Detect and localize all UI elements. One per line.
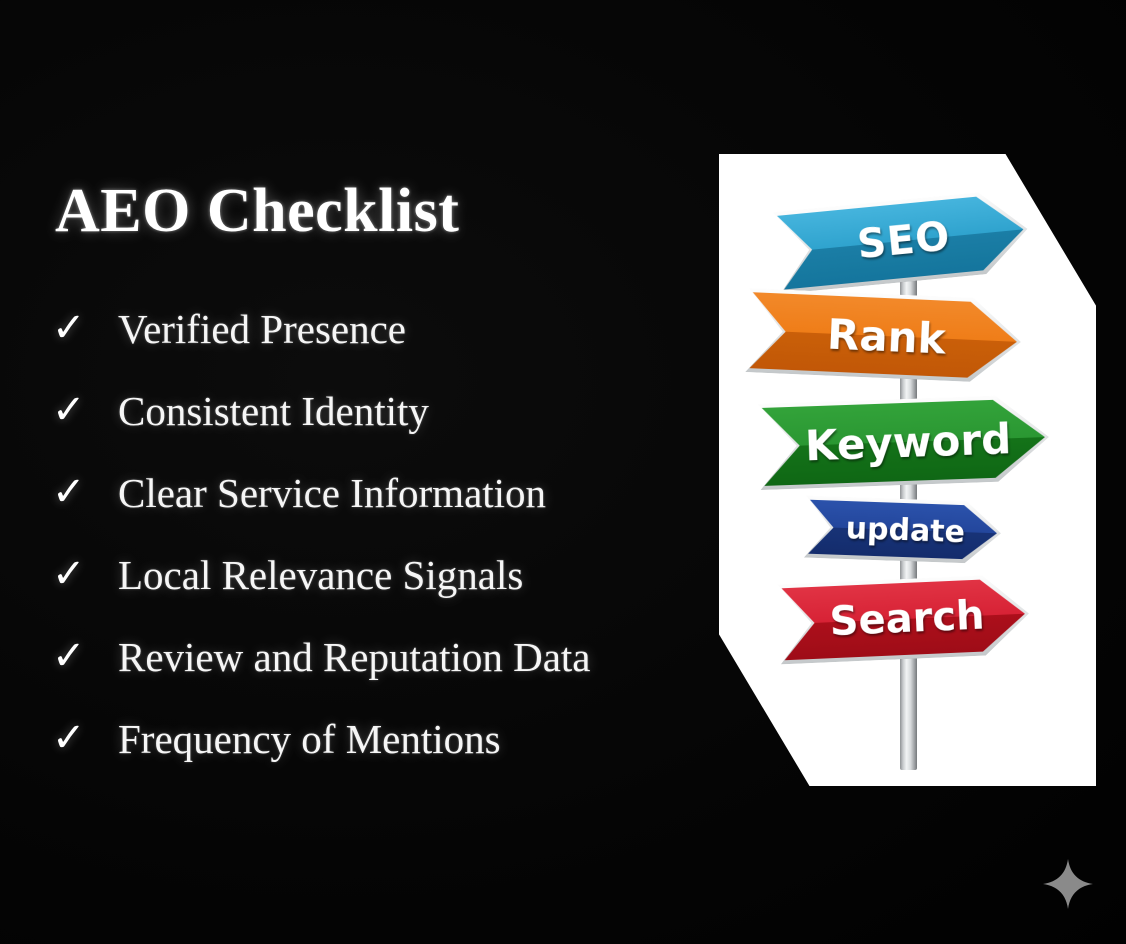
sign-arrow-update: update bbox=[804, 496, 1002, 565]
left-content-column: AEO Checklist ✓ Verified Presence ✓ Cons… bbox=[0, 0, 720, 944]
list-item: ✓ Verified Presence bbox=[52, 289, 712, 371]
sign-arrow-search: Search bbox=[777, 574, 1030, 665]
signpost-illustration: SEO Rank Keyword update Search bbox=[719, 154, 1096, 786]
checklist-item-label: Consistent Identity bbox=[118, 390, 712, 433]
checklist-item-label: Local Relevance Signals bbox=[118, 554, 712, 597]
sign-arrow-rank: Rank bbox=[745, 288, 1022, 384]
checklist-item-label: Review and Reputation Data bbox=[118, 636, 712, 679]
check-icon: ✓ bbox=[52, 390, 118, 430]
sign-label: Search bbox=[829, 593, 986, 646]
check-icon: ✓ bbox=[52, 554, 118, 594]
page-title: AEO Checklist bbox=[55, 180, 459, 242]
list-item: ✓ Clear Service Information bbox=[52, 453, 712, 535]
sign-label: Keyword bbox=[804, 414, 1012, 470]
sign-arrow-seo: SEO bbox=[773, 188, 1032, 294]
check-icon: ✓ bbox=[52, 636, 118, 676]
sign-label: Rank bbox=[826, 309, 947, 363]
list-item: ✓ Consistent Identity bbox=[52, 371, 712, 453]
signpost-pole bbox=[900, 210, 917, 770]
checklist-item-label: Verified Presence bbox=[118, 308, 712, 351]
checklist-item-label: Clear Service Information bbox=[118, 472, 712, 515]
list-item: ✓ Review and Reputation Data bbox=[52, 617, 712, 699]
sign-label: update bbox=[845, 511, 965, 550]
sign-arrow-keyword: Keyword bbox=[758, 394, 1051, 490]
signpost-image-card: SEO Rank Keyword update Search bbox=[719, 154, 1096, 786]
check-icon: ✓ bbox=[52, 472, 118, 512]
list-item: ✓ Frequency of Mentions bbox=[52, 699, 712, 781]
sign-label: SEO bbox=[855, 213, 952, 268]
check-icon: ✓ bbox=[52, 308, 118, 348]
slide-canvas: AEO Checklist ✓ Verified Presence ✓ Cons… bbox=[0, 0, 1126, 944]
check-icon: ✓ bbox=[52, 718, 118, 758]
list-item: ✓ Local Relevance Signals bbox=[52, 535, 712, 617]
checklist: ✓ Verified Presence ✓ Consistent Identit… bbox=[52, 289, 712, 781]
checklist-item-label: Frequency of Mentions bbox=[118, 718, 712, 761]
sparkle-icon bbox=[1042, 858, 1094, 910]
